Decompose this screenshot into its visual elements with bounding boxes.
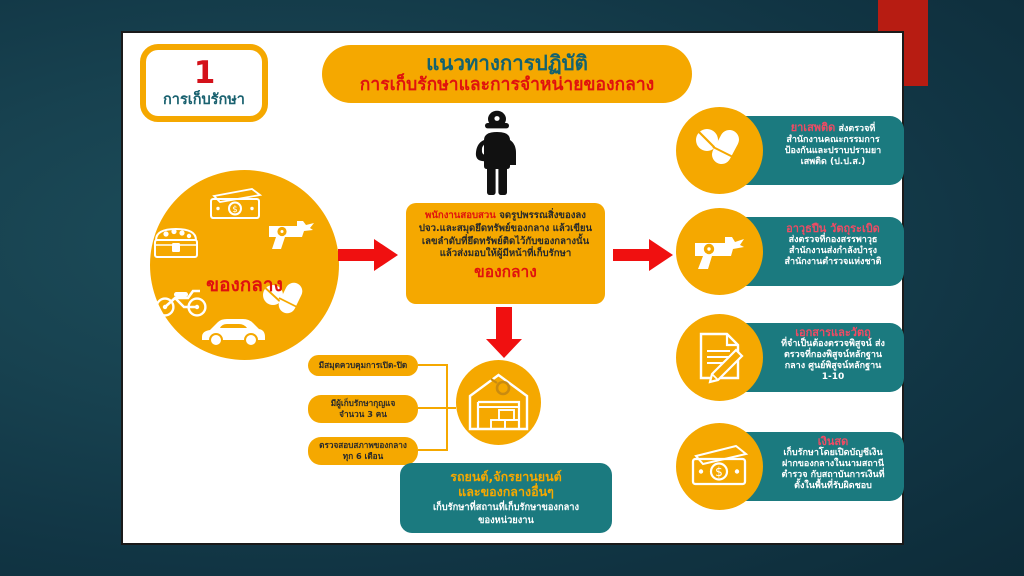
other-evidence-body-1: เก็บรักษาที่สถานที่เก็บรักษาของกลาง (400, 502, 612, 513)
card-firearms-icon-ring (676, 208, 763, 295)
card-firearms-line-1: ส่งตรวจที่กองสรรพาวุธ (770, 235, 896, 246)
infographic-panel: 1 การเก็บรักษา แนวทางการปฏิบัติ การเก็บร… (121, 31, 904, 545)
warehouse-rule-pill-3: ตรวจสอบสภาพของกลาง ทุก 6 เดือน (308, 437, 418, 465)
card-narcotics-line-1: สำนักงานคณะกรรมการ (770, 135, 896, 146)
card-documents-icon-ring (676, 314, 763, 401)
card-cash-line-4: ตั้งในพื้นที่รับผิดชอบ (770, 481, 896, 492)
card-firearms-line-2: สำนักงานส่งกำลังบำรุง (770, 246, 896, 257)
treasure-chest-icon (152, 222, 200, 260)
revolver-icon (263, 216, 319, 252)
center-line-4: แล้วส่งมอบให้ผู้มีหน้าที่เก็บรักษา (412, 248, 599, 261)
title-line-1: แนวทางการปฏิบัติ (426, 52, 588, 75)
warehouse-rule-pill-1: มีสมุดควบคุมการเปิด-ปิด (308, 355, 418, 376)
pills-capsule-icon (693, 125, 747, 175)
title-line-2: การเก็บรักษาและการจำหน่ายของกลาง (360, 76, 654, 96)
step-caption: การเก็บรักษา (163, 93, 245, 108)
center-line-3: เลขลำดับที่ยึดทรัพย์ติดไว้กับของกลางนั้น (412, 236, 599, 249)
svg-text:$: $ (715, 465, 723, 479)
card-documents-line-4: 1-10 (770, 372, 896, 383)
other-evidence-body-2: ของหน่วยงาน (400, 515, 612, 526)
card-firearms: อาวุธปืน วัตถุระเบิด ส่งตรวจที่กองสรรพาว… (676, 208, 904, 295)
card-firearms-line-3: สำนักงานตำรวจแห่งชาติ (770, 257, 896, 268)
card-cash-line-2: ฝากของกลางในนามสถานี (770, 459, 896, 470)
connector-line-mid (418, 407, 456, 409)
connector-line-bottom (418, 449, 448, 451)
evidence-circle-label: ของกลาง (150, 270, 339, 300)
center-line-2: ปจว.และสมุดยึดทรัพย์ของกลาง แล้วเขียน (412, 223, 599, 236)
warehouse-circle (456, 360, 541, 445)
center-line-1: พนักงานสอบสวน จดรูปพรรณสิ่งของลง (412, 210, 599, 223)
warehouse-rule-pill-2: มีผู้เก็บรักษากุญแจ จำนวน 3 คน (308, 395, 418, 423)
banknotes-icon: $ (689, 445, 751, 489)
document-pen-icon (696, 331, 744, 385)
card-narcotics-head-rest: ส่งตรวจที่ (835, 124, 875, 134)
card-narcotics: ยาเสพติด ส่งตรวจที่ สำนักงานคณะกรรมการ ป… (676, 107, 904, 194)
step-badge: 1 การเก็บรักษา (140, 44, 268, 122)
center-highlight: พนักงานสอบสวน (425, 210, 496, 221)
card-narcotics-line-2: ป้องกันและปราบปรามยา (770, 146, 896, 157)
arrow-center-to-cards-icon (613, 236, 675, 274)
center-instruction-box: พนักงานสอบสวน จดรูปพรรณสิ่งของลง ปจว.และ… (406, 203, 605, 304)
card-documents-line-2: ตรวจที่กองพิสูจน์หลักฐาน (770, 350, 896, 361)
other-evidence-head-1: รถยนต์,จักรยานยนต์ (400, 469, 612, 484)
card-cash-icon-ring: $ (676, 423, 763, 510)
arrow-circle-to-center-icon (338, 236, 400, 274)
other-evidence-head-2: และของกลางอื่นๆ (400, 484, 612, 499)
arrow-center-to-warehouse-icon (485, 307, 523, 359)
car-icon (198, 315, 270, 347)
card-narcotics-head-text: ยาเสพติด (791, 121, 836, 134)
card-documents-line-1: ที่จำเป็นต้องตรวจพิสูจน์ ส่ง (770, 339, 896, 350)
police-officer-icon (462, 110, 532, 195)
card-cash-line-1: เก็บรักษาโดยเปิดบัญชีเงิน (770, 448, 896, 459)
connector-line-top (418, 364, 448, 366)
revolver-icon (689, 232, 751, 272)
other-evidence-box: รถยนต์,จักรยานยนต์ และของกลางอื่นๆ เก็บร… (400, 463, 612, 533)
card-cash-head: เงินสด (770, 435, 896, 448)
card-narcotics-icon-ring (676, 107, 763, 194)
step-number: 1 (194, 58, 215, 89)
card-cash: เงินสด เก็บรักษาโดยเปิดบัญชีเงิน ฝากของก… (676, 423, 904, 510)
card-documents: เอกสารและวัตถุ ที่จำเป็นต้องตรวจพิสูจน์ … (676, 314, 904, 401)
card-narcotics-head: ยาเสพติด ส่งตรวจที่ (770, 121, 896, 135)
card-firearms-head: อาวุธปืน วัตถุระเบิด (770, 222, 896, 235)
card-cash-line-3: ตำรวจ กับสถาบันการเงินที่ (770, 470, 896, 481)
card-narcotics-line-3: เสพติด (ป.ป.ส.) (770, 157, 896, 168)
banknotes-icon: $ (208, 188, 266, 220)
center-big-label: ของกลาง (412, 262, 599, 283)
card-documents-line-3: กลาง ศูนย์พิสูจน์หลักฐาน (770, 361, 896, 372)
svg-text:$: $ (232, 205, 237, 215)
page-title: แนวทางการปฏิบัติ การเก็บรักษาและการจำหน่… (322, 45, 692, 103)
card-documents-head: เอกสารและวัตถุ (770, 326, 896, 339)
connector-line-vertical (446, 364, 448, 451)
center-line-1-rest: จดรูปพรรณสิ่งของลง (496, 210, 586, 221)
warehouse-with-boxes-icon (467, 372, 530, 432)
evidence-circle: $ (150, 170, 339, 360)
